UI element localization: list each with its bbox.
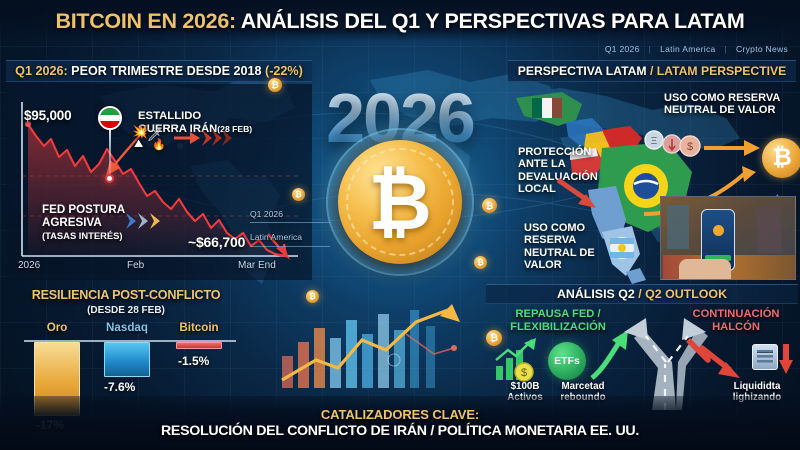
bar-label-oro: Oro bbox=[22, 321, 92, 334]
phone-bitcoin-icon bbox=[713, 225, 724, 236]
etf-badge: ETFs bbox=[548, 342, 586, 380]
svg-text:$: $ bbox=[521, 367, 527, 379]
meta-divider-2: | bbox=[725, 44, 728, 54]
meta-divider-1: | bbox=[649, 44, 652, 54]
reserve-label-left: USO COMORESERVANEUTRAL DEVALOR bbox=[524, 222, 595, 271]
left-band-text: PEOR TRIMESTRE DESDE 2018 bbox=[71, 64, 261, 78]
liquidity-decline-arrow bbox=[684, 334, 756, 384]
watermark-line-2 bbox=[250, 246, 330, 247]
bitcoin-symbol: ₿ bbox=[368, 163, 432, 241]
liquidity-down-arrow bbox=[778, 342, 796, 376]
svg-text:Ξ: Ξ bbox=[651, 136, 658, 147]
meta-region: Latin America bbox=[660, 44, 715, 54]
central-bank-icon bbox=[752, 344, 778, 370]
mini-bitcoin-icon-2: ₿ bbox=[292, 188, 305, 201]
mini-bitcoin-icon-5: ₿ bbox=[306, 290, 319, 303]
fed-line-1: FED POSTURA bbox=[42, 203, 125, 216]
latam-bitcoin-coin: ₿ bbox=[762, 138, 800, 178]
page-title: BITCOIN EN 2026: ANÁLISIS DEL Q1 Y PERSP… bbox=[55, 9, 744, 34]
header-meta-bar: Q1 2026 | Latin America | Crypto News bbox=[605, 44, 788, 54]
growth-chart-icon: $ bbox=[492, 338, 546, 382]
bar-value-nasdaq: -7.6% bbox=[104, 380, 135, 394]
reserve-label-top: USO COMO RESERVANEUTRAL DE VALOR bbox=[664, 92, 780, 117]
mini-bitcoin-icon-1: ₿ bbox=[268, 78, 282, 92]
x-axis-tick-end: Mar End bbox=[238, 260, 276, 271]
bitcoin-coin-graphic: ₿ bbox=[338, 140, 462, 264]
bar-nasdaq bbox=[104, 342, 150, 377]
fed-line-3: (TASAS INTERÉS) bbox=[42, 230, 123, 241]
title-highlight: BITCOIN EN 2026: bbox=[55, 9, 235, 33]
event-marker-dot bbox=[105, 174, 114, 183]
right-band-es: PERSPECTIVA LATAM bbox=[518, 64, 647, 78]
infographic-canvas: BITCOIN EN 2026: ANÁLISIS DEL Q1 Y PERSP… bbox=[0, 0, 800, 450]
right-panel-header: PERSPECTIVA LATAM / LATAM PERSPECTIVE bbox=[508, 60, 796, 82]
watermark-region: Latin America bbox=[250, 232, 302, 242]
q2-band-es: ANÁLISIS Q2 bbox=[557, 287, 635, 301]
bitcoin-icon: ₿ bbox=[338, 140, 462, 264]
decorative-candlestick-chart bbox=[276, 300, 486, 388]
x-axis-tick-start: 2026 bbox=[18, 260, 40, 271]
x-axis-tick-mid: Feb bbox=[127, 260, 144, 271]
meta-source: Crypto News bbox=[736, 44, 788, 54]
mini-bitcoin-icon-3: ₿ bbox=[482, 198, 497, 213]
footer-catalysts-label: CATALIZADORES CLAVE: bbox=[321, 407, 479, 422]
left-band-change: (-22%) bbox=[265, 64, 303, 78]
title-bar: BITCOIN EN 2026: ANÁLISIS DEL Q1 Y PERSP… bbox=[0, 0, 800, 42]
title-main: ANÁLISIS DEL Q1 Y PERSPECTIVAS PARA LATA… bbox=[241, 9, 745, 33]
fed-chevron-arrows bbox=[124, 210, 180, 232]
bar-chart-subtitle: (DESDE 28 FEB) bbox=[6, 305, 246, 316]
bar-label-bitcoin: Bitcoin bbox=[164, 321, 234, 334]
bar-label-nasdaq: Nasdaq bbox=[92, 321, 162, 334]
meta-quarter: Q1 2026 bbox=[605, 44, 640, 54]
price-low-label: ~$66,700 bbox=[188, 234, 245, 250]
protection-arrow bbox=[552, 176, 622, 216]
watermark-quarter: Q1 2026 bbox=[250, 209, 283, 219]
q2-panel-header: ANÁLISIS Q2 / Q2 OUTLOOK bbox=[486, 284, 798, 304]
bar-bitcoin bbox=[176, 342, 222, 349]
fed-line-2: AGRESIVA bbox=[42, 216, 102, 229]
right-band-en: / LATAM PERSPECTIVE bbox=[650, 64, 786, 78]
fed-policy-annotation: FED POSTURA AGRESIVA (TASAS INTERÉS) bbox=[42, 204, 125, 242]
bar-value-bitcoin: -1.5% bbox=[178, 354, 209, 368]
q2-band-en: / Q2 OUTLOOK bbox=[638, 287, 727, 301]
latam-adoption-photo bbox=[660, 196, 796, 280]
mini-bitcoin-icon-4: ₿ bbox=[474, 256, 487, 269]
bar-chart-title: RESILIENCIA POST-CONFLICTO bbox=[6, 288, 246, 302]
left-band-quarter: Q1 2026: bbox=[15, 64, 68, 78]
footer-banner: CATALIZADORES CLAVE: RESOLUCIÓN DEL CONF… bbox=[0, 396, 800, 450]
svg-text:$: $ bbox=[687, 141, 693, 153]
footer-catalysts-text: RESOLUCIÓN DEL CONFLICTO DE IRÁN / POLÍT… bbox=[161, 423, 639, 439]
